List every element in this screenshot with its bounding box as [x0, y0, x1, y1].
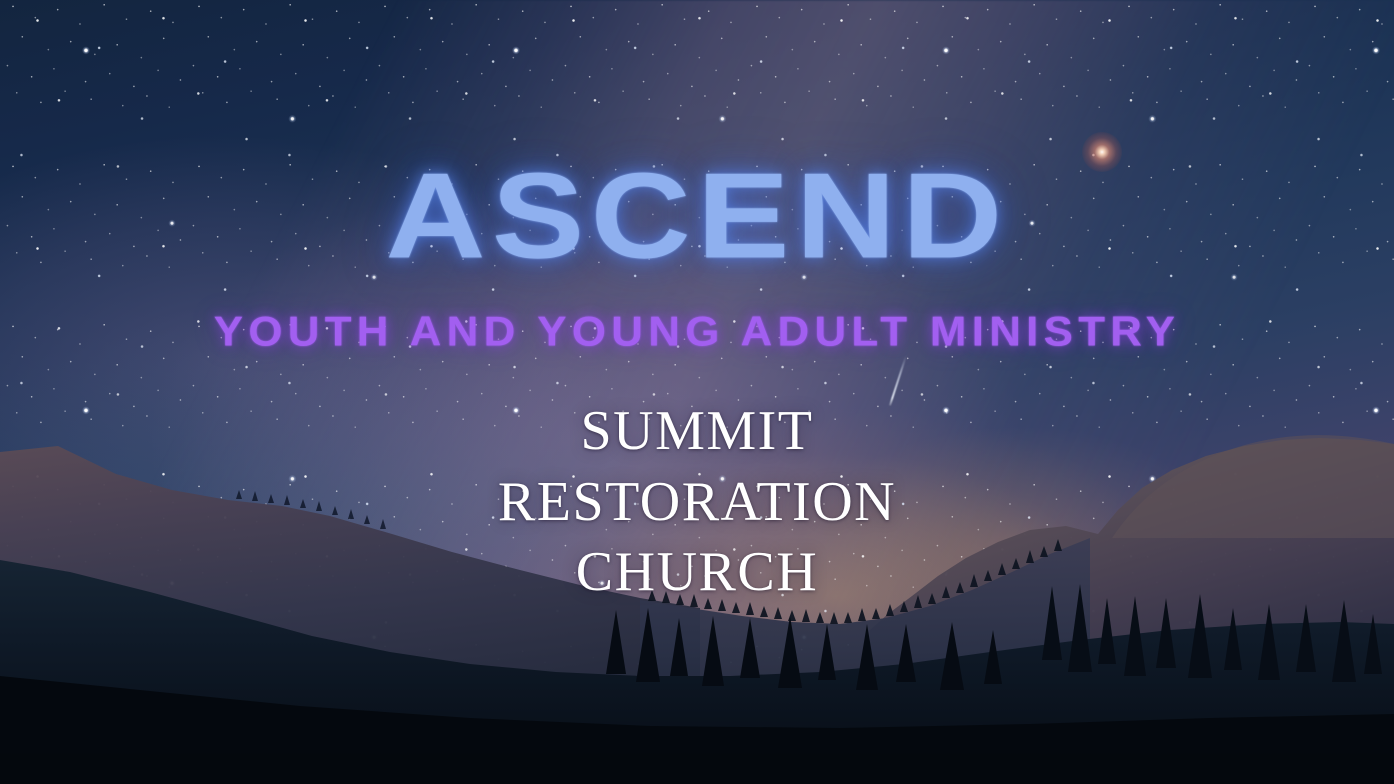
church-name-line-3: CHURCH [0, 537, 1394, 608]
church-name: SUMMIT RESTORATION CHURCH [0, 396, 1394, 608]
brand-wordmark: ASCEND [0, 155, 1394, 276]
brand-tagline: YOUTH AND YOUNG ADULT MINISTRY [0, 312, 1394, 353]
church-name-line-1: SUMMIT [0, 396, 1394, 467]
church-name-line-2: RESTORATION [0, 467, 1394, 538]
mountain-silhouettes [0, 0, 1394, 784]
title-slide: ASCEND YOUTH AND YOUNG ADULT MINISTRY SU… [0, 0, 1394, 784]
